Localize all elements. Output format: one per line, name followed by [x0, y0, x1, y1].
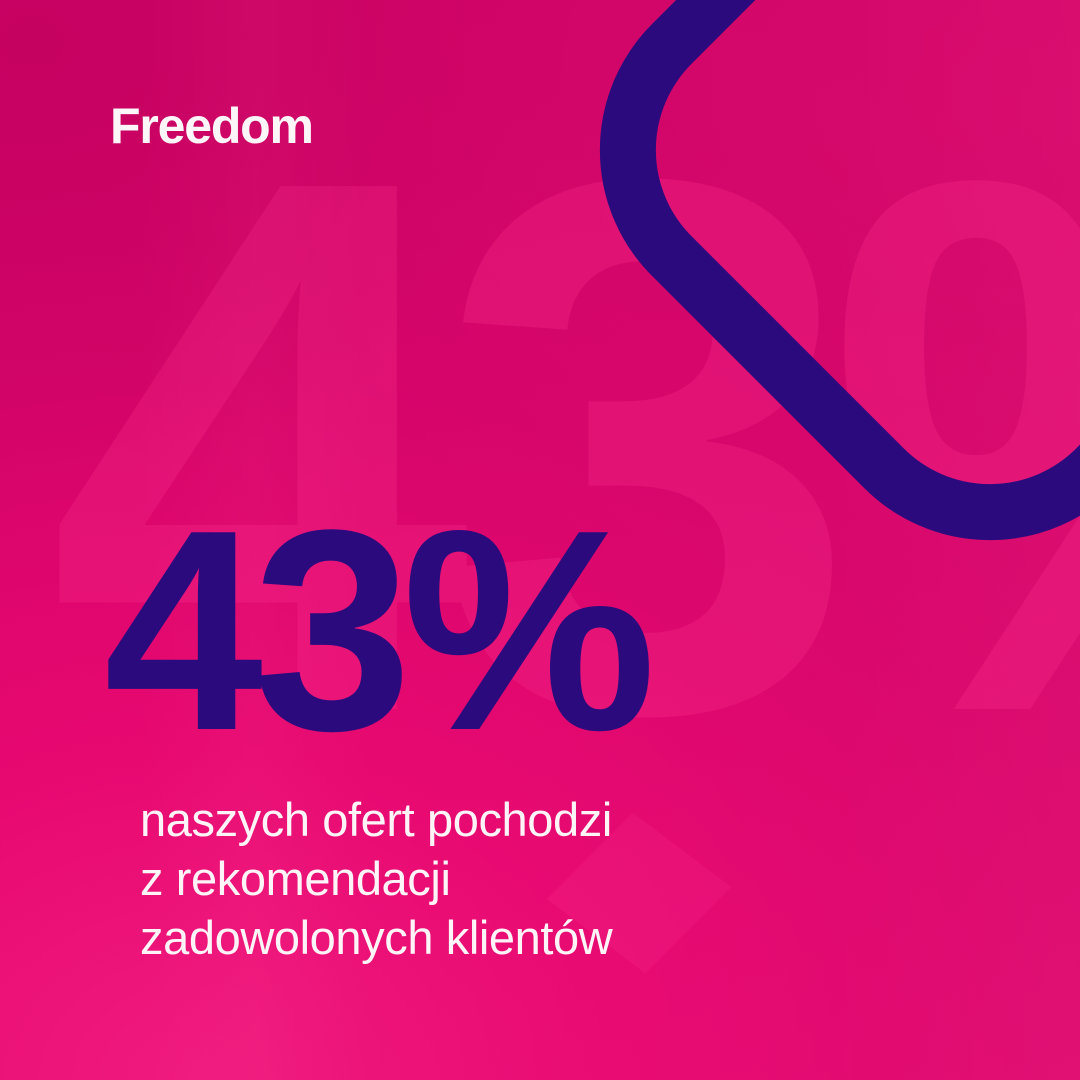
body-copy: naszych ofert pochodzi z rekomendacji za…: [140, 790, 840, 967]
body-copy-line-2: z rekomendacji: [140, 849, 840, 908]
stat-headline: 43%: [104, 487, 646, 773]
brand-logo: Freedom: [110, 97, 313, 155]
body-copy-line-3: zadowolonych klientów: [140, 908, 840, 967]
social-graphic-canvas: 43% Freedom 43% naszych ofert pochodzi z…: [0, 0, 1080, 1080]
body-copy-line-1: naszych ofert pochodzi: [140, 790, 840, 849]
